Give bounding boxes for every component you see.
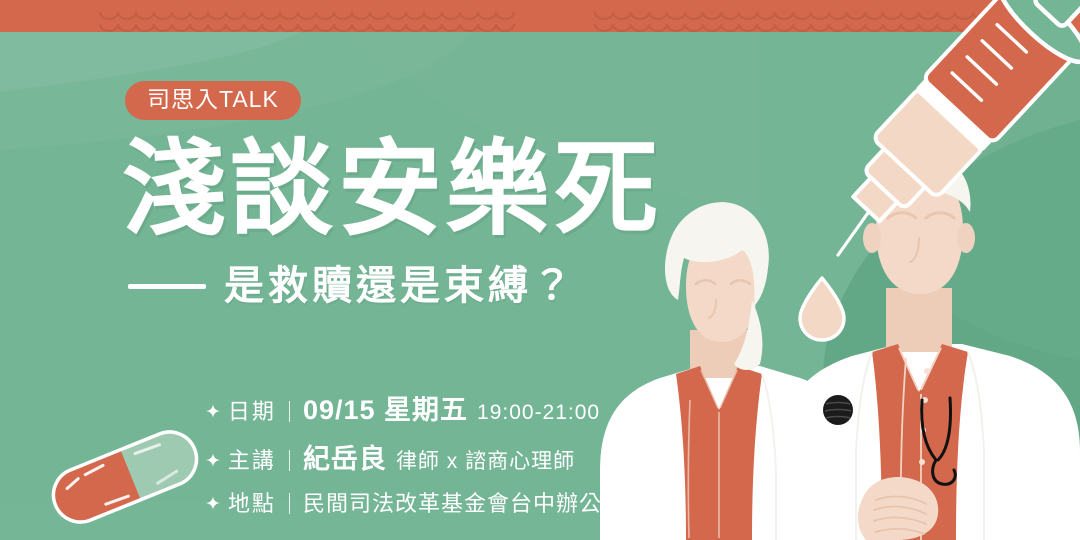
event-info-block: ✦ 日期 09/15 星期五 19:00-21:00 ✦ 主講 紀岳良 律師 x… bbox=[205, 388, 625, 518]
talk-series-badge[interactable]: 司思入TALK bbox=[125, 81, 301, 120]
info-row-date: ✦ 日期 09/15 星期五 19:00-21:00 bbox=[205, 388, 625, 427]
info-value-speaker-title: 律師 x 諮商心理師 bbox=[396, 445, 575, 475]
subtitle-dash-icon bbox=[128, 284, 206, 289]
info-label-speaker: 主講 bbox=[228, 443, 276, 475]
info-separator bbox=[289, 493, 290, 514]
info-value-time: 19:00-21:00 bbox=[477, 401, 600, 425]
sparkle-icon: ✦ bbox=[205, 495, 221, 514]
poster-title: 淺談安樂死 bbox=[122, 136, 662, 245]
subtitle-text: 是救贖還是束縛？ bbox=[224, 266, 576, 306]
info-value-location: 民間司法改革基金會台中辦公室 bbox=[303, 486, 625, 518]
poster-canvas: 司思入TALK 淺談安樂死 是救贖還是束縛？ ✦ 日期 09/15 星期五 19… bbox=[0, 0, 1080, 540]
sparkle-icon: ✦ bbox=[205, 452, 221, 471]
info-label-date: 日期 bbox=[228, 394, 276, 426]
info-value-speaker-name: 紀岳良 bbox=[303, 437, 387, 476]
sparkle-icon: ✦ bbox=[205, 403, 221, 422]
info-separator bbox=[289, 450, 290, 471]
info-separator bbox=[289, 401, 290, 422]
scallop-pattern-icon bbox=[0, 0, 1080, 32]
info-label-location: 地點 bbox=[228, 486, 276, 518]
poster-subtitle: 是救贖還是束縛？ bbox=[128, 266, 576, 306]
info-row-location: ✦ 地點 民間司法改革基金會台中辦公室 bbox=[205, 486, 625, 518]
top-scallop-band bbox=[0, 0, 1080, 32]
info-row-speaker: ✦ 主講 紀岳良 律師 x 諮商心理師 bbox=[205, 437, 625, 476]
info-value-date: 09/15 星期五 bbox=[303, 388, 468, 427]
